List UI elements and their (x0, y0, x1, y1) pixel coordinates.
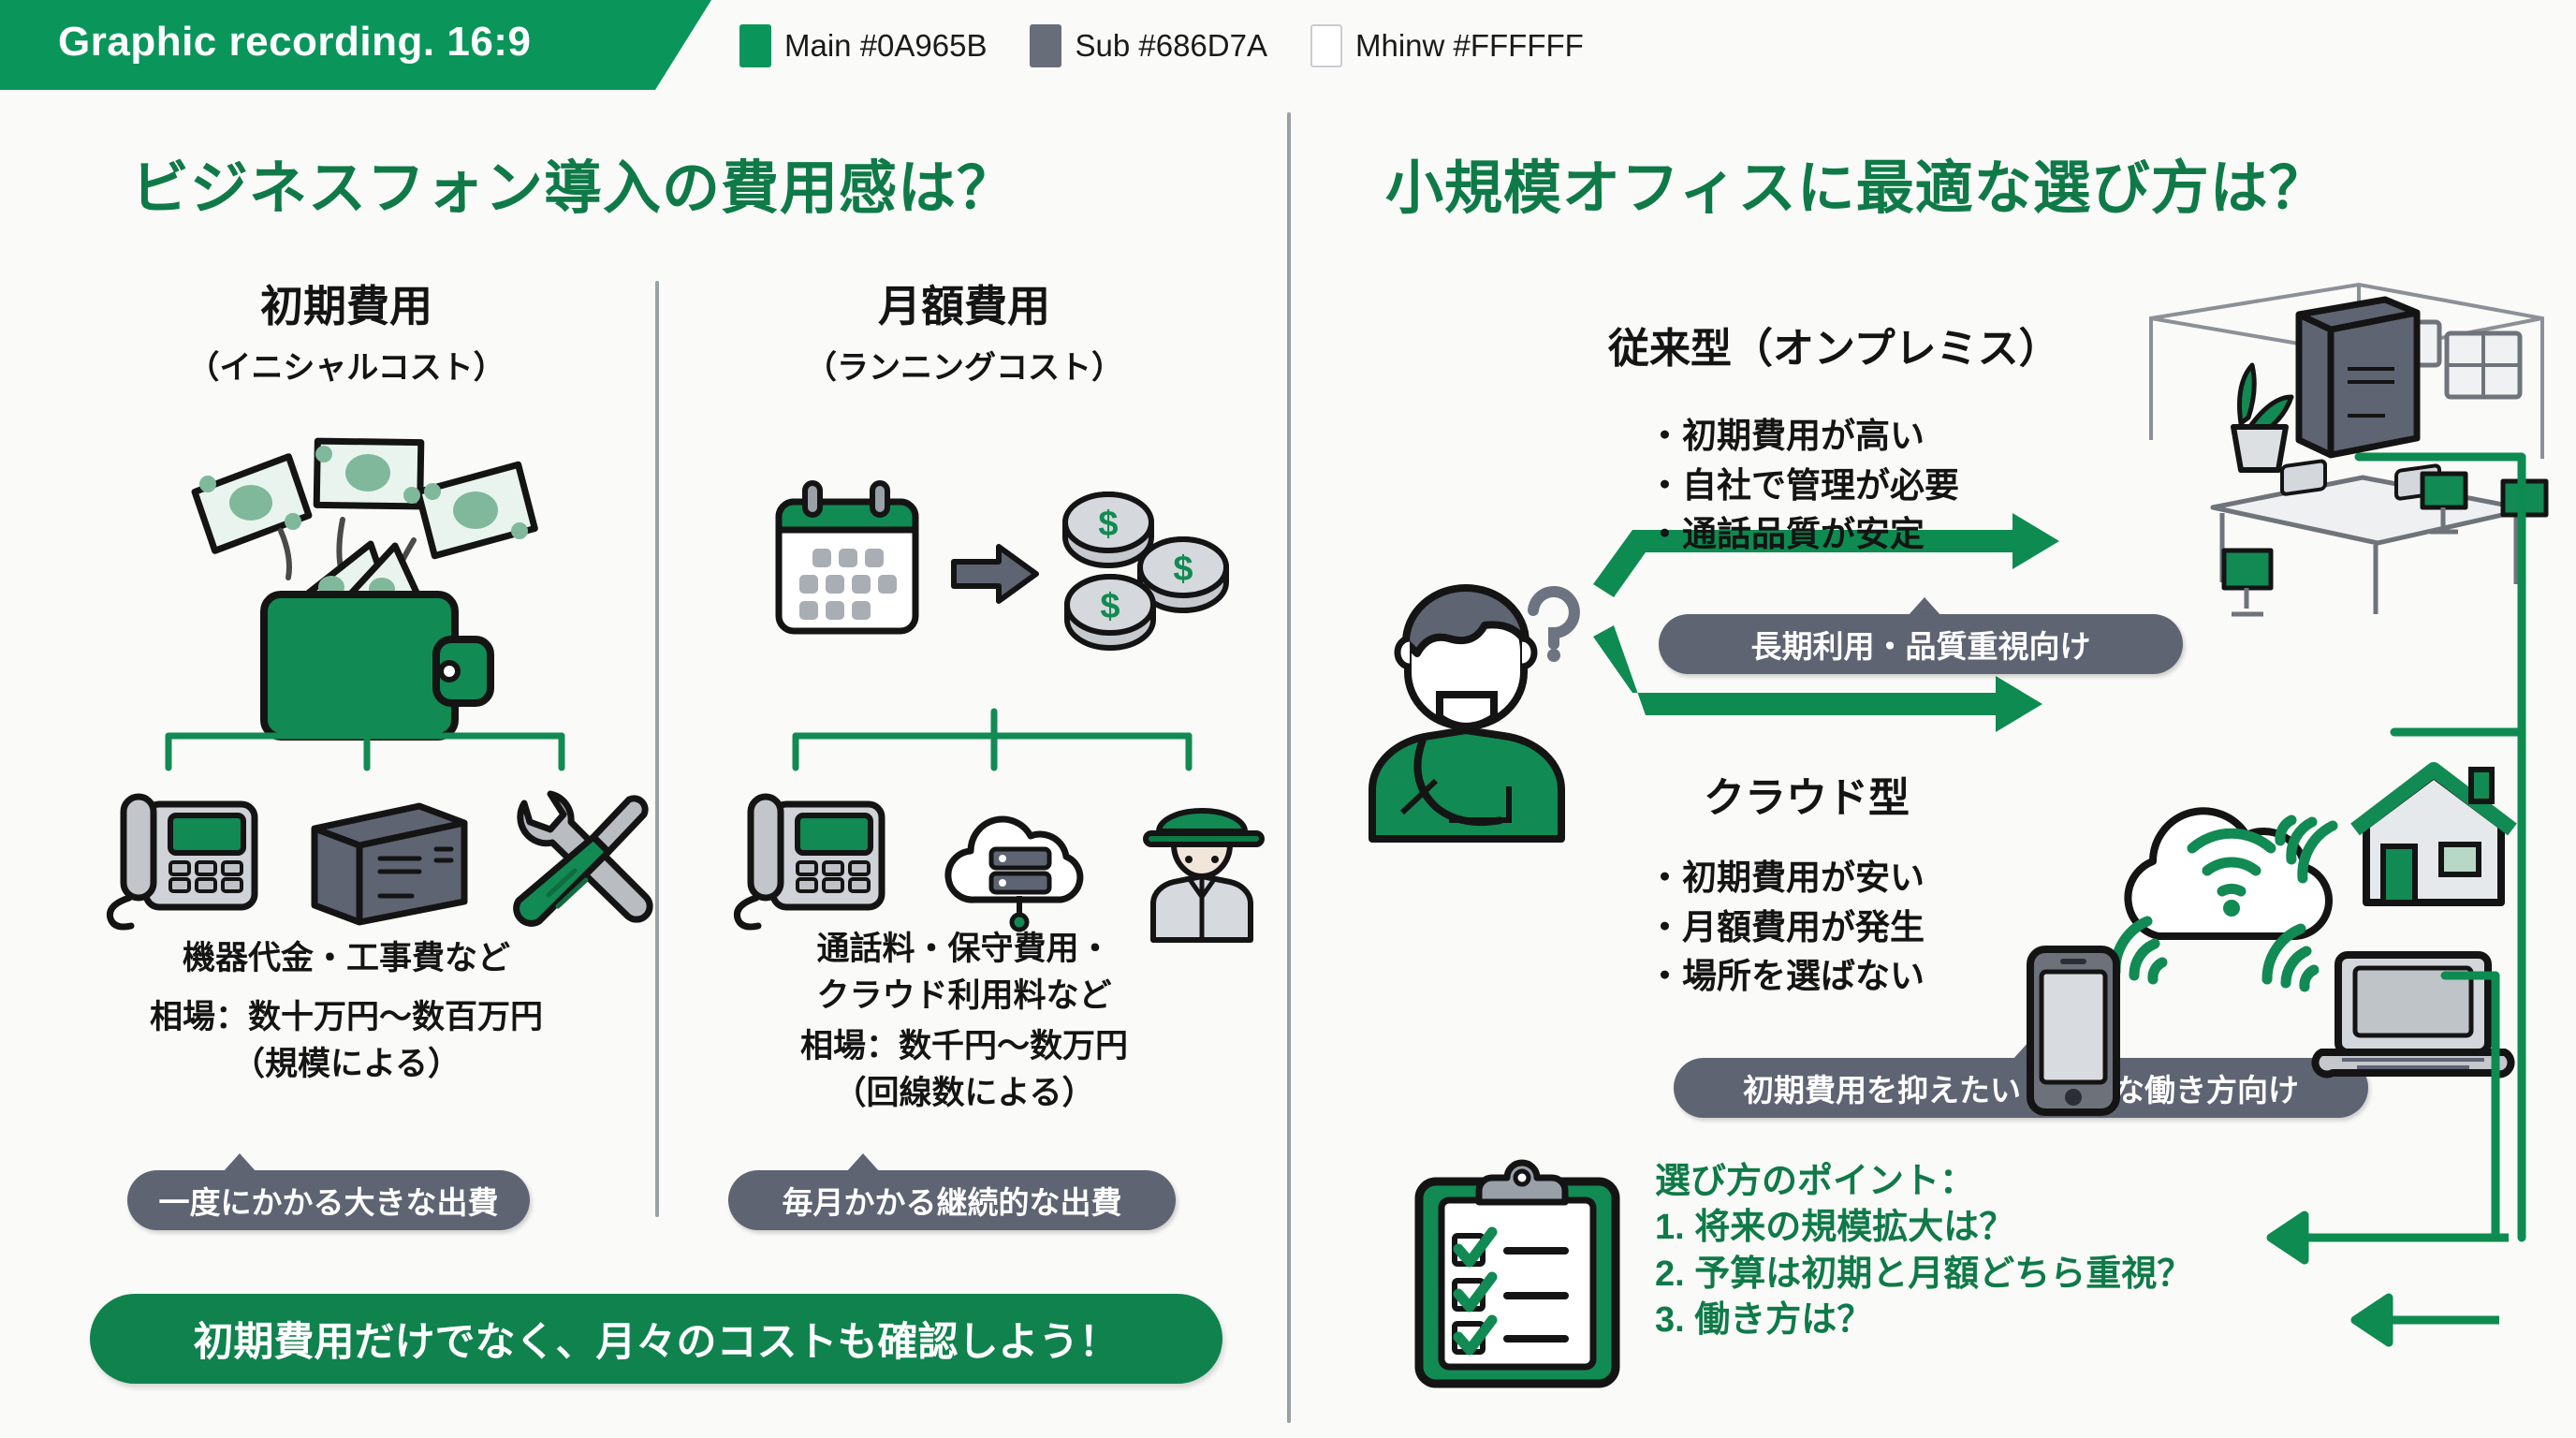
legend-item-sub: Sub #686D7A (1030, 24, 1267, 67)
legend-label-sub: Sub #686D7A (1075, 28, 1267, 64)
cloud-bullet-3: ・場所を選ばない (1647, 952, 1925, 1002)
wallet-with-flying-bills-icon (140, 426, 590, 726)
calendar-icon (768, 477, 927, 646)
svg-text:$: $ (1173, 550, 1193, 589)
checklist-item-3: 3. 働き方は？ (1655, 1298, 2192, 1343)
cloud-title: クラウド型 (1704, 764, 1910, 824)
legend-item-white: Mhinw #FFFFFF (1310, 24, 1584, 67)
legend-label-main: Main #0A965B (784, 28, 987, 64)
initial-cost-badge: 一度にかかる大きな出費 (127, 1170, 530, 1230)
monthly-cost-subtitle: （ランニングコスト） (683, 342, 1245, 388)
onpremise-bullet-3: ・通話品質が安定 (1647, 510, 1959, 560)
monthly-cost-desc-3: 相場：数千円〜数万円 (665, 1024, 1264, 1069)
tools-icon (496, 786, 655, 936)
svg-text:$: $ (1100, 587, 1120, 626)
left-panel-banner: 初期費用だけでなく、月々のコストも確認しよう！ (90, 1294, 1222, 1384)
cloud-bullet-1: ・初期費用が安い (1647, 854, 1925, 903)
checklist-item-1: 1. 将来の規模拡大は？ (1655, 1205, 2192, 1251)
monthly-badge-notch (846, 1153, 880, 1172)
header-title: Graphic recording. 16:9 (58, 19, 531, 66)
column-divider (655, 281, 659, 1217)
initial-cost-title: 初期費用 (66, 281, 627, 332)
left-panel-title: ビジネスフォン導入の費用感は？ (131, 140, 1016, 225)
infographic-page: Graphic recording. 16:9 Main #0A965B Sub… (0, 0, 2576, 1438)
smartphone-icon (2017, 936, 2130, 1123)
connector-tree-initial (112, 712, 618, 786)
feedback-connector-lines (2321, 421, 2576, 1273)
onpremise-bullet-2: ・自社で管理が必要 (1647, 462, 1959, 511)
legend-item-main: Main #0A965B (739, 24, 987, 67)
coins-icon: $$$ (1058, 479, 1236, 648)
connector-tree-monthly (739, 712, 1245, 786)
legend-label-white: Mhinw #FFFFFF (1355, 28, 1584, 64)
white-swatch-icon (1310, 24, 1342, 67)
onpremise-bullet-1: ・初期費用が高い (1647, 412, 1959, 462)
initial-badge-notch (223, 1153, 256, 1172)
monthly-cost-desc-2: クラウド利用料など (665, 974, 1264, 1019)
onpremise-badge-notch (1908, 597, 1941, 616)
arrow-right-icon (950, 543, 1040, 605)
cloud-bullet-2: ・月額費用が発生 (1647, 903, 1925, 953)
svg-text:$: $ (1098, 505, 1118, 544)
monthly-cost-desc-4: （回線数による） (665, 1071, 1264, 1116)
support-staff-icon (1133, 786, 1273, 941)
checklist-text-block: 選び方のポイント： 1. 将来の規模拡大は？ 2. 予算は初期と月額どちら重視？… (1655, 1159, 2192, 1344)
checklist-feedback-arrows (2218, 1200, 2527, 1425)
pbx-unit-icon (300, 791, 477, 932)
initial-cost-desc-2: 相場：数十万円〜数百万円 (47, 995, 646, 1040)
monthly-cost-title: 月額費用 (683, 281, 1245, 332)
monthly-cost-badge: 毎月かかる継続的な出費 (728, 1170, 1176, 1230)
main-swatch-icon (739, 24, 771, 67)
onpremise-badge: 長期利用・品質重視向け (1659, 614, 2183, 674)
right-panel-title: 小規模オフィスに最適な選び方は？ (1385, 140, 2328, 225)
onpremise-bullets: ・初期費用が高い ・自社で管理が必要 ・通話品質が安定 (1647, 412, 1959, 560)
desk-phone-icon (103, 782, 271, 932)
checklist-item-2: 2. 予算は初期と月額どちら重視？ (1655, 1252, 2192, 1298)
checklist-heading: 選び方のポイント： (1655, 1159, 2192, 1205)
header-bar: Graphic recording. 16:9 Main #0A965B Sub… (0, 0, 2576, 90)
thinking-person-icon (1359, 562, 1574, 843)
desk-phone-icon-monthly (730, 782, 899, 932)
cloud-bullets: ・初期費用が安い ・月額費用が発生 ・場所を選ばない (1647, 854, 1925, 1002)
panel-divider (1287, 112, 1291, 1423)
initial-cost-subtitle: （イニシャルコスト） (66, 342, 627, 388)
color-legend: Main #0A965B Sub #686D7A Mhinw #FFFFFF (739, 24, 1584, 67)
sub-swatch-icon (1030, 24, 1061, 67)
initial-cost-desc-3: （規模による） (47, 1042, 646, 1087)
initial-cost-desc-1: 機器代金・工事費など (47, 936, 646, 981)
onpremise-title: 従来型（オンプレミス） (1608, 315, 2060, 374)
clipboard-checklist-icon (1410, 1157, 1625, 1393)
cloud-server-icon (922, 791, 1109, 941)
monthly-cost-desc-1: 通話料・保守費用・ (665, 927, 1264, 972)
